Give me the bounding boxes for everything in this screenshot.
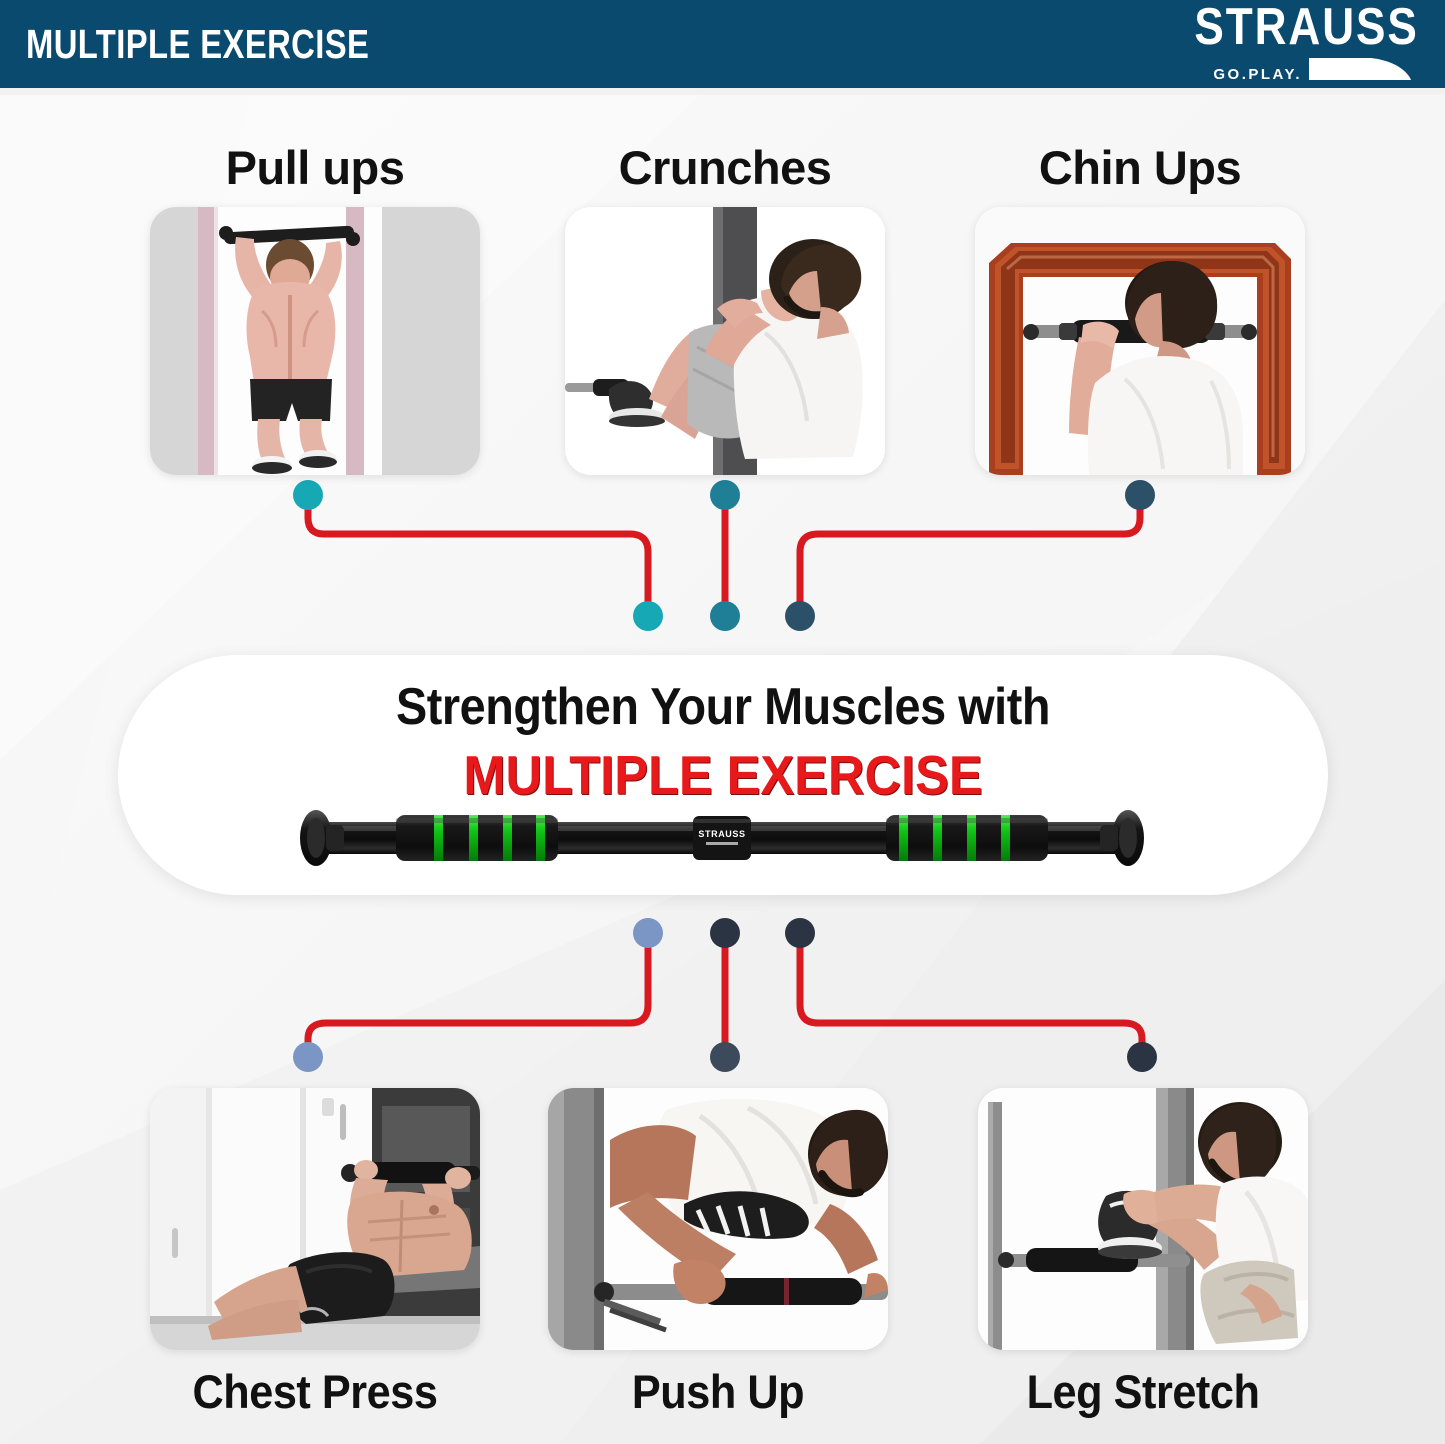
connector-dot-pull-ups	[293, 480, 323, 510]
connector-dot-center-left-top	[633, 601, 663, 631]
swoosh-icon	[1307, 56, 1419, 82]
pull-up-bar-icon: STRAUSS	[282, 793, 1162, 888]
connector-dot-center-mid-top	[710, 601, 740, 631]
chin-ups-photo	[975, 207, 1305, 475]
connector-dot-chin-ups	[1125, 480, 1155, 510]
brand-tagline: GO.PLAY.	[1213, 67, 1302, 82]
connector-dot-leg-stretch	[1127, 1042, 1157, 1072]
connector-lines-bottom	[0, 905, 1445, 1085]
connector-dot-crunches	[710, 480, 740, 510]
exercise-label-push-up: Push Up	[562, 1364, 875, 1419]
exercise-label-chin-ups: Chin Ups	[975, 140, 1305, 195]
exercise-label-leg-stretch: Leg Stretch	[991, 1364, 1295, 1419]
connector-dot-center-right-top	[785, 601, 815, 631]
header-bar: MULTIPLE EXERCISE STRAUSS GO.PLAY.	[0, 0, 1445, 88]
connector-dot-chest-press	[293, 1042, 323, 1072]
center-headline: Strengthen Your Muscles with	[179, 677, 1268, 737]
exercise-card-chest-press[interactable]: Chest Press	[150, 1088, 480, 1419]
crunches-photo	[565, 207, 885, 475]
exercise-card-crunches[interactable]: Crunches	[565, 140, 885, 475]
exercise-card-chin-ups[interactable]: Chin Ups	[975, 140, 1305, 475]
exercise-label-crunches: Crunches	[565, 140, 885, 195]
page-title: MULTIPLE EXERCISE	[26, 21, 369, 68]
connector-dot-center-right-bottom	[785, 918, 815, 948]
chest-press-photo	[150, 1088, 480, 1350]
exercise-label-chest-press: Chest Press	[163, 1364, 467, 1419]
connector-dot-center-mid-bottom	[710, 918, 740, 948]
leg-stretch-photo	[978, 1088, 1308, 1350]
push-up-photo	[548, 1088, 888, 1350]
exercise-card-push-up[interactable]: Push Up	[548, 1088, 888, 1419]
exercise-card-pull-ups[interactable]: Pull ups	[150, 140, 480, 475]
connector-dot-push-up	[710, 1042, 740, 1072]
connector-lines-top	[0, 470, 1445, 670]
exercise-card-leg-stretch[interactable]: Leg Stretch	[978, 1088, 1308, 1419]
pull-ups-photo	[150, 207, 480, 475]
connector-dot-center-left-bottom	[633, 918, 663, 948]
brand-logo: STRAUSS GO.PLAY.	[1185, 6, 1419, 82]
product-brand-label: STRAUSS	[698, 829, 745, 839]
exercise-label-pull-ups: Pull ups	[150, 140, 480, 195]
brand-name: STRAUSS	[1195, 0, 1419, 52]
